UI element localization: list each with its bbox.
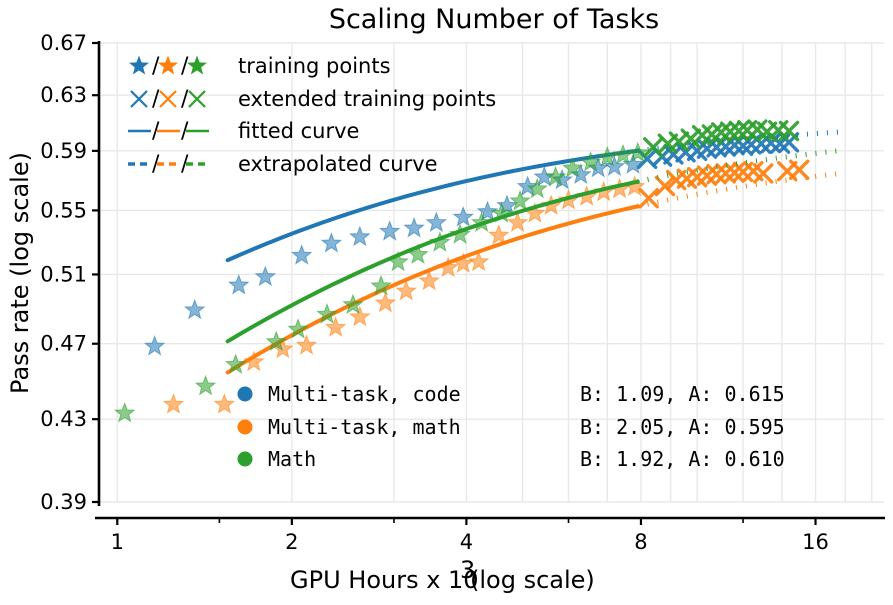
x-axis-title-tail: (log scale): [470, 566, 595, 594]
series-legend-name: Multi-task, math: [268, 415, 461, 439]
series-legend-name: Multi-task, code: [268, 382, 461, 406]
page-title: Scaling Number of Tasks: [329, 4, 659, 35]
x-axis-tick-label: 16: [802, 530, 829, 554]
x-axis-tick-label: 1: [111, 530, 124, 554]
legend-symbol-separator: /: [181, 87, 189, 112]
x-axis-tick-label: 8: [634, 530, 647, 554]
y-axis-tick-label: 0.43: [40, 407, 87, 431]
legend-symbol-separator: /: [152, 54, 160, 79]
y-axis-tick-label: 0.47: [40, 332, 87, 356]
y-axis-tick-label: 0.55: [40, 198, 87, 222]
legend-symbol-separator: /: [152, 87, 160, 112]
marker-legend-label: training points: [238, 54, 391, 78]
marker-legend-label: extended training points: [238, 87, 496, 111]
y-axis-title: Pass rate (log scale): [6, 152, 34, 394]
marker-legend-label: extrapolated curve: [238, 152, 438, 176]
y-axis-tick-label: 0.39: [40, 490, 87, 514]
y-axis-tick-label: 0.63: [40, 83, 87, 107]
marker-legend-label: fitted curve: [238, 119, 359, 143]
marker-legend-row[interactable]: //extended training points: [131, 87, 496, 112]
chart-svg: 0.390.430.470.510.550.590.630.67124816 S…: [0, 0, 893, 605]
x-axis-tick-label: 4: [460, 530, 473, 554]
y-axis-tick-label: 0.59: [40, 139, 87, 163]
chart-figure: 0.390.430.470.510.550.590.630.67124816 S…: [0, 0, 893, 605]
x-axis-title-base: GPU Hours x 10: [290, 566, 479, 594]
y-axis-tick-label: 0.67: [40, 31, 87, 55]
legend-symbol-separator: /: [181, 54, 189, 79]
x-axis-tick-label: 2: [285, 530, 298, 554]
y-axis-tick-label: 0.51: [40, 262, 87, 286]
series-legend-dot-icon: [238, 420, 253, 435]
series-legend-dot-icon: [238, 387, 253, 402]
series-legend-name: Math: [268, 447, 316, 471]
series-legend-params: B: 2.05, A: 0.595: [580, 415, 785, 439]
series-legend-params: B: 1.92, A: 0.610: [580, 447, 785, 471]
series-legend-dot-icon: [238, 452, 253, 467]
series-legend-params: B: 1.09, A: 0.615: [580, 382, 785, 406]
